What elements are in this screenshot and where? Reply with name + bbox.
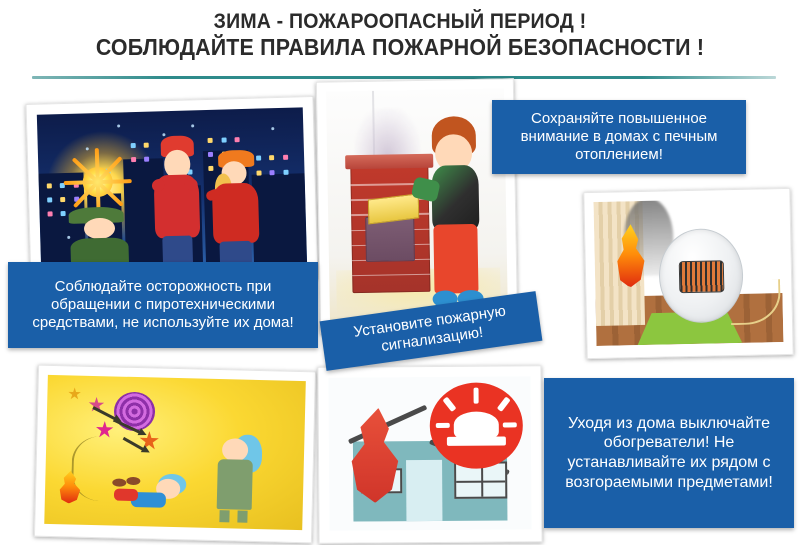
photo-fireworks-night-city — [26, 96, 319, 286]
girl-figure — [204, 432, 268, 523]
banner-turn-off-heaters: Уходя из дома выключайте обогреватели! Н… — [544, 378, 794, 528]
poster-title-line-1: ЗИМА - ПОЖАРООПАСНЫЙ ПЕРИОД ! — [28, 10, 772, 34]
photo-boy-brick-stove — [316, 78, 518, 333]
boy-figure — [419, 116, 494, 310]
fire-alarm-icon — [430, 382, 524, 468]
photo-firework-accident-children — [34, 365, 316, 544]
poster-title-line-2: СОБЛЮДАЙТЕ ПРАВИЛА ПОЖАРНОЙ БЕЗОПАСНОСТИ… — [28, 34, 772, 60]
photo-house-fire-alarm-image — [328, 376, 531, 530]
banner-fireworks-caution: Соблюдайте осторожность при обращении с … — [8, 262, 318, 348]
fallen-boy-figure — [112, 469, 201, 516]
child-figure — [144, 135, 211, 268]
heater-coil — [679, 260, 724, 292]
fire-safety-poster: ЗИМА - ПОЖАРООПАСНЫЙ ПЕРИОД ! СОБЛЮДАЙТЕ… — [0, 0, 800, 545]
child-figure — [61, 206, 137, 270]
child-figure — [203, 149, 270, 266]
photo-fireworks-night-city-image — [37, 107, 307, 270]
banner-stove-heating-attention: Сохраняйте повышенное внимание в домах с… — [492, 100, 746, 174]
photo-boy-brick-stove-image — [326, 88, 508, 320]
photo-firework-accident-children-image — [44, 375, 306, 530]
title-divider-rule — [32, 76, 776, 79]
photo-heater-burning-curtain — [583, 188, 793, 359]
photo-house-fire-alarm — [317, 365, 542, 544]
photo-heater-burning-curtain-image — [593, 198, 783, 346]
poster-title: ЗИМА - ПОЖАРООПАСНЫЙ ПЕРИОД ! СОБЛЮДАЙТЕ… — [28, 10, 772, 60]
